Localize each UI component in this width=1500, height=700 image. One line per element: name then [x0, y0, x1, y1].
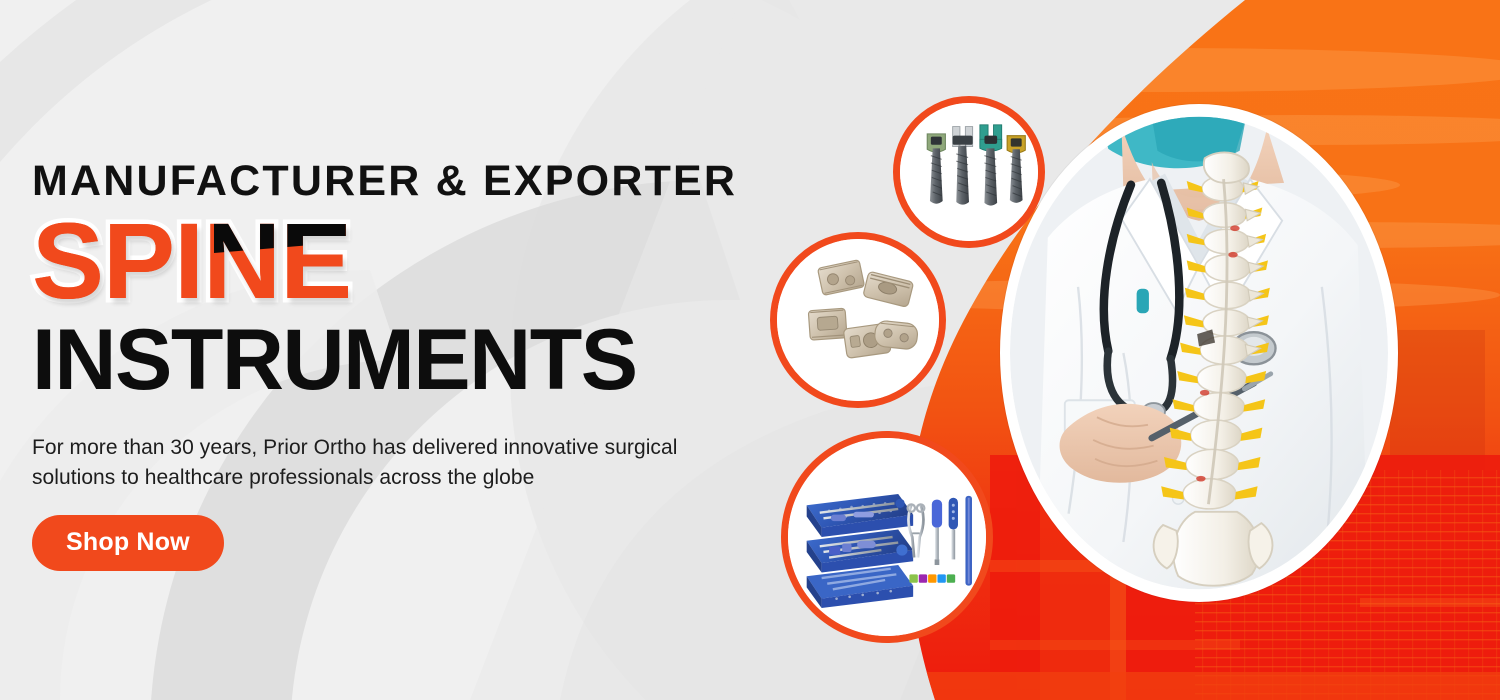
- hero-photo-doctor-with-spine-model: [1000, 104, 1398, 602]
- hero-banner: MANUFACTURER & EXPORTER SPINE SPINE SPIN…: [0, 0, 1500, 700]
- headline-main: INSTRUMENTS: [32, 317, 732, 403]
- product-circle-pedicle-screws[interactable]: [893, 96, 1045, 248]
- headline-accent-wrap: SPINE SPINE SPINE: [32, 207, 432, 315]
- instrument-trays-image: [788, 438, 986, 636]
- pedicle-screws-image: [900, 103, 1038, 241]
- product-circle-instrument-trays[interactable]: [781, 431, 993, 643]
- product-circle-peek-cages[interactable]: [770, 232, 946, 408]
- eyebrow-heading: MANUFACTURER & EXPORTER: [32, 160, 732, 203]
- shop-now-button[interactable]: Shop Now: [32, 515, 224, 571]
- peek-cages-image: [777, 239, 939, 401]
- hero-subtitle: For more than 30 years, Prior Ortho has …: [32, 433, 732, 493]
- hero-text-block: MANUFACTURER & EXPORTER SPINE SPINE SPIN…: [32, 160, 732, 571]
